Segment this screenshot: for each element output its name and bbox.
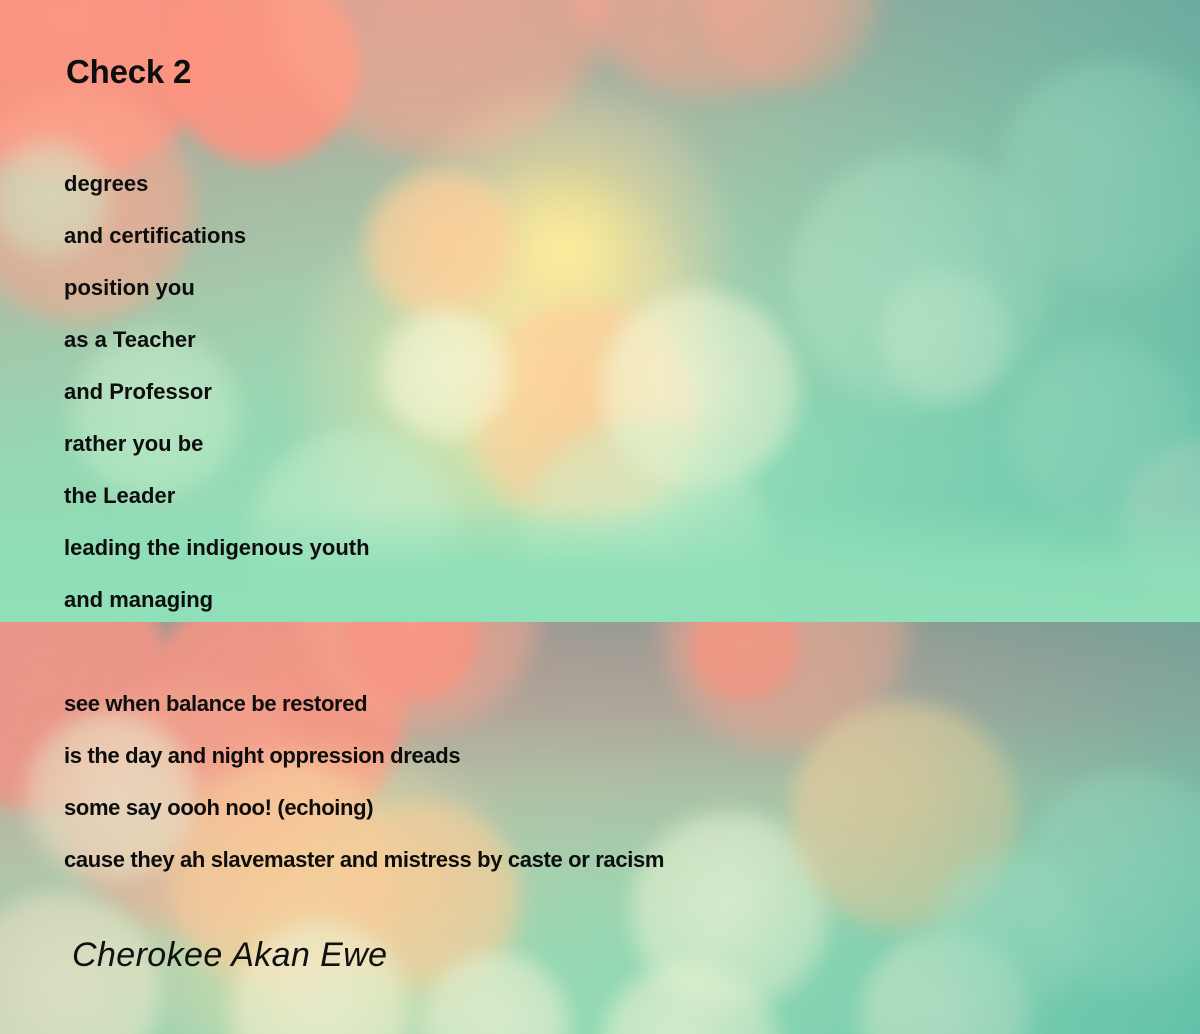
poem-stanza: degrees and certifications position you … [64, 158, 370, 626]
poem-line: leading the indigenous youth [64, 522, 370, 574]
poem-author-signature: Cherokee Akan Ewe [72, 936, 388, 975]
poem-line: position you [64, 262, 370, 314]
poem-line: cause they ah slavemaster and mistress b… [64, 834, 664, 886]
poem-line: and certifications [64, 210, 370, 262]
poem-line: see when balance be restored [64, 678, 664, 730]
poem-line: is the day and night oppression dreads [64, 730, 664, 782]
poem-line: degrees [64, 158, 370, 210]
poem-line: as a Teacher [64, 314, 370, 366]
poem-line: the Leader [64, 470, 370, 522]
poem-line: and Professor [64, 366, 370, 418]
poem-text-layer: Check 2 degrees and certifications posit… [0, 0, 1200, 1034]
poem-line: rather you be [64, 418, 370, 470]
poem-line: and managing [64, 574, 370, 626]
poem-image-card: Check 2 degrees and certifications posit… [0, 0, 1200, 1034]
page-title: Check 2 [66, 53, 191, 91]
poem-line: some say oooh noo! (echoing) [64, 782, 664, 834]
poem-stanza: see when balance be restored is the day … [64, 678, 664, 886]
